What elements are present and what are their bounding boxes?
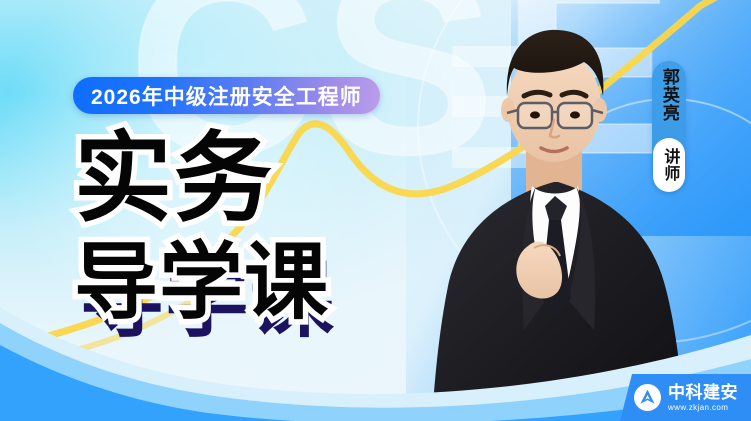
brand-text: 中科建安 www.zkjan.com <box>668 384 738 412</box>
course-badge: 2026年中级注册安全工程师 <box>73 77 380 114</box>
instructor-role: 讲师 <box>661 148 678 182</box>
page-title: 实务 导学课 导学课 <box>74 130 329 324</box>
course-badge-label: 2026年中级注册安全工程师 <box>91 81 362 111</box>
instructor-role-pill: 讲师 <box>653 138 685 192</box>
instructor-name-tag: 郭英亮 讲师 <box>652 61 686 191</box>
brand-name: 中科建安 <box>668 384 738 401</box>
instructor-name: 郭英亮 <box>660 68 678 122</box>
course-poster: CSE <box>0 0 751 421</box>
headline-line-2: 导学课 <box>74 240 329 324</box>
brand-mark-icon <box>634 384 661 411</box>
brand-logo: 中科建安 www.zkjan.com <box>620 374 751 421</box>
headline-line-1: 实务 <box>74 130 329 228</box>
headline-line-1-wrap: 实务 <box>74 130 329 228</box>
mountain-star-icon <box>637 387 658 408</box>
headline-line-2-wrap: 导学课 导学课 <box>74 240 329 324</box>
brand-website: www.zkjan.com <box>668 404 738 412</box>
